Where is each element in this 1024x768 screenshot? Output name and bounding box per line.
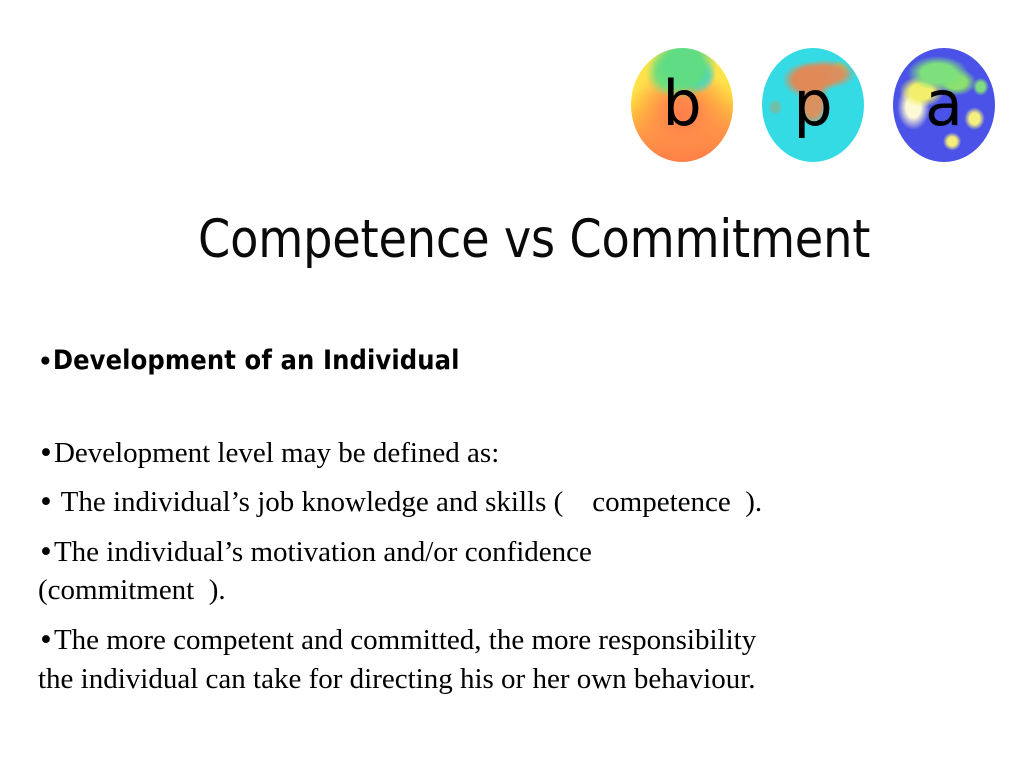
spacer <box>38 610 988 621</box>
globe-icon-a: a <box>890 40 998 170</box>
body-bullet-1-line-1: Development level may be defined as: <box>54 437 499 469</box>
bullet-icon: • <box>38 537 54 568</box>
bullet-icon: • <box>38 625 54 656</box>
body-bullet-2: • The individual’s job knowledge and ski… <box>38 483 988 522</box>
body-heading: •Development of an Individual <box>38 346 988 376</box>
slide-body: •Development of an Individual •Developme… <box>38 346 988 698</box>
bullet-icon: • <box>38 438 54 469</box>
slide-canvas: b p a Competence vs Commitment •Developm… <box>0 0 1024 768</box>
spacer <box>38 376 988 434</box>
globe-letter-p: p <box>759 40 867 170</box>
spacer <box>38 472 988 483</box>
body-bullet-3-line-1: The individual’s motivation and/or confi… <box>54 536 592 568</box>
globe-icon-b: b <box>628 40 736 170</box>
body-bullet-4-line-1: The more competent and committed, the mo… <box>54 624 756 656</box>
body-bullet-1: •Development level may be defined as: <box>38 434 988 473</box>
bullet-icon: • <box>38 349 53 375</box>
spacer <box>38 522 988 533</box>
body-bullet-2-line-1: The individual’s job knowledge and skill… <box>54 486 762 518</box>
globe-letter-a: a <box>890 40 998 170</box>
body-bullet-3-line-2: (commitment ). <box>38 574 226 606</box>
bullet-icon: • <box>38 487 54 518</box>
globe-letter-b: b <box>628 40 736 170</box>
body-bullet-3: •The individual’s motivation and/or conf… <box>38 533 988 572</box>
body-bullet-4-cont: the individual can take for directing hi… <box>38 660 988 699</box>
body-heading-text: Development of an Individual <box>53 345 460 376</box>
slide-title: Competence vs Commitment <box>198 212 858 268</box>
body-bullet-4-line-2: the individual can take for directing hi… <box>38 663 756 695</box>
body-bullet-3-cont: (commitment ). <box>38 571 988 610</box>
bpa-globes-logo: b p a <box>628 36 998 174</box>
body-bullet-4: •The more competent and committed, the m… <box>38 621 988 660</box>
globe-icon-p: p <box>759 40 867 170</box>
